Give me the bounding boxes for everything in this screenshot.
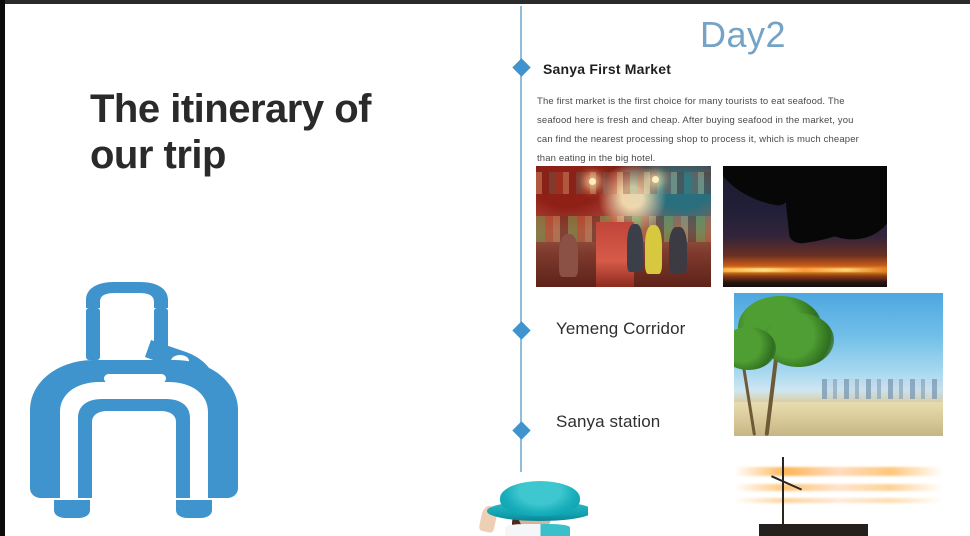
market-shopper (559, 234, 578, 278)
sunset-cloud-band (734, 484, 943, 491)
boat-hull (759, 524, 868, 536)
sunset-palm-photo (723, 166, 887, 287)
suitcase-icon (24, 282, 242, 518)
timeline-marker-sanya-first-market[interactable] (512, 58, 530, 76)
beach-city-skyline (822, 379, 943, 399)
section-body-text: The first market is the first choice for… (537, 92, 867, 168)
timeline-marker-yemeng-corridor[interactable] (512, 321, 530, 339)
palm-frond (723, 166, 797, 207)
timeline-marker-sanya-station[interactable] (512, 421, 530, 439)
sunset-horizon-glow (723, 268, 887, 272)
market-stall-row (536, 172, 711, 194)
day-heading: Day2 (700, 14, 786, 56)
sun-hat-crown (500, 481, 581, 516)
woman-sun-hat-photo (462, 478, 588, 536)
boat-mast (782, 457, 784, 528)
woman-shirt (505, 524, 571, 536)
page-title: The itinerary of our trip (90, 86, 450, 178)
harbour-sunset-photo (734, 440, 943, 536)
stop-label-sanya-station: Sanya station (556, 412, 660, 432)
capture-left-bar (0, 0, 5, 536)
market-photo (536, 166, 711, 287)
sunset-cloud-band (734, 498, 943, 503)
section-title: Sanya First Market (543, 61, 671, 77)
presentation-slide: The itinerary of our trip (0, 0, 970, 536)
market-shopper (669, 227, 687, 274)
stop-label-yemeng-corridor: Yemeng Corridor (556, 319, 685, 339)
sunset-cloud-band (734, 467, 943, 476)
palm-canopy (734, 327, 776, 370)
capture-top-bar (0, 0, 970, 4)
market-shopper (645, 225, 663, 273)
market-shopper (627, 224, 643, 272)
market-lamp (652, 176, 659, 183)
beach-palms-photo (734, 293, 943, 436)
market-lamp (589, 178, 596, 185)
